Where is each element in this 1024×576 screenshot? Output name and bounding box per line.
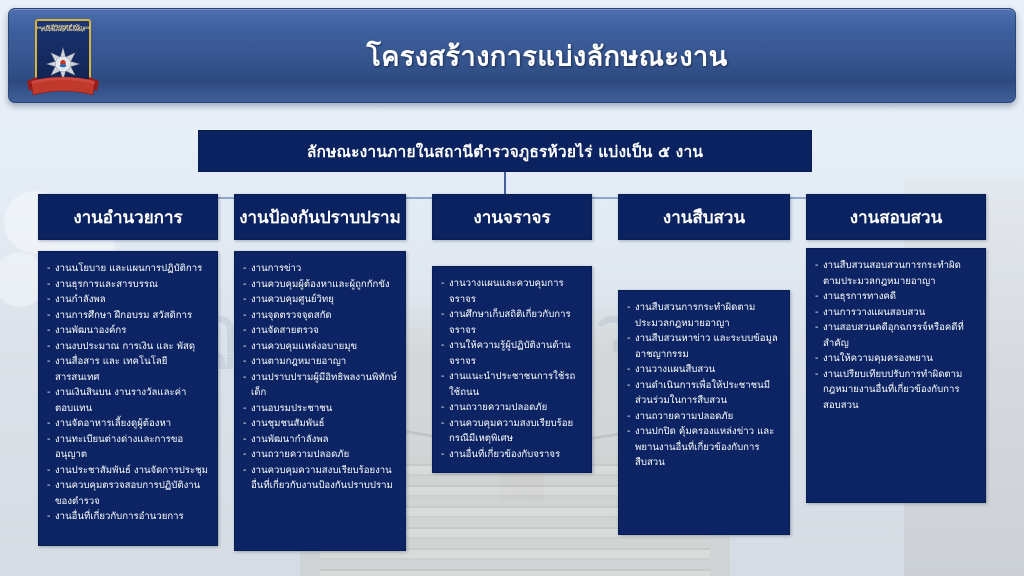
list-item: งานสืบสวนสอบสวนการกระทำผิดตามประมวลกฎหมา… <box>814 258 978 289</box>
list-item: งานงบประมาณ การเงิน และ พัสดุ <box>46 339 210 355</box>
column-body-traffic: งานวางแผนและควบคุมการจราจร งานศึกษาเก็บส… <box>432 266 592 473</box>
column-body-investigation: งานสืบสวนการกระทำผิดตามประมวลกฎหมายอาญา … <box>618 290 790 535</box>
list-item: งานสืบสวนหาข่าว และระบบข้อมูลอาชญากรรม <box>626 331 782 362</box>
list-item: งานพัฒนาองค์กร <box>46 323 210 339</box>
list-item: งานถวายความปลอดภัย <box>626 409 782 425</box>
list-item: งานศึกษาเก็บสถิติเกี่ยวกับการจราจร <box>440 307 584 338</box>
list-item: งานดำเนินการเพื่อให้ประชาชนมีส่วนร่วมในก… <box>626 378 782 409</box>
list-item: งานให้ความรู้ผู้ปฏิบัติงานด้านจราจร <box>440 338 584 369</box>
column-header-interrogation[interactable]: งานสอบสวน <box>806 194 986 240</box>
list-item: งานอื่นที่เกี่ยวข้องกับจราจร <box>440 447 584 463</box>
list-item: งานจัดอาหารเลี้ยงดูผู้ต้องหา <box>46 416 210 432</box>
column-body-administration: งานนโยบาย และแผนการปฏิบัติการ งานธุรการแ… <box>38 251 218 546</box>
column-interrogation: งานสอบสวน งานสืบสวนสอบสวนการกระทำผิดตามป… <box>806 194 986 503</box>
list-item: งานสืบสวนการกระทำผิดตามประมวลกฎหมายอาญา <box>626 300 782 331</box>
list-item: งานจุดตรวจจุดสกัด <box>242 308 398 324</box>
list-item: งานถวายความปลอดภัย <box>440 400 584 416</box>
list-item: งานเปรียบเทียบปรับการทำผิดตามกฎหมายงานอื… <box>814 367 978 414</box>
list-item: งานการข่าว <box>242 261 398 277</box>
list-item: งานชุมชนสัมพันธ์ <box>242 416 398 432</box>
list-item: งานเงินสินบน งานรางวัลและค่าตอบแทน <box>46 385 210 416</box>
list-item: งานประชาสัมพันธ์ งานจัดการประชุม <box>46 463 210 479</box>
list-item: งานควบคุมตรวจสอบการปฏิบัติงานของตำรวจ <box>46 478 210 509</box>
list-item: งานการวางแผนสอบสวน <box>814 305 978 321</box>
list-item: งานพัฒนากำลังพล <box>242 432 398 448</box>
column-body-interrogation: งานสืบสวนสอบสวนการกระทำผิดตามประมวลกฎหมา… <box>806 248 986 503</box>
column-header-administration[interactable]: งานอำนวยการ <box>38 194 218 240</box>
list-item: งานอื่นที่เกี่ยวกับการอำนวยการ <box>46 509 210 525</box>
org-columns: งานอำนวยการ งานนโยบาย และแผนการปฏิบัติกา… <box>0 0 1024 576</box>
list-item: งานจัดสายตรวจ <box>242 323 398 339</box>
list-item: งานควบคุมศูนย์วิทยุ <box>242 292 398 308</box>
list-item: งานการศึกษา ฝึกอบรม สวัสดิการ <box>46 308 210 324</box>
column-header-investigation[interactable]: งานสืบสวน <box>618 194 790 240</box>
list-item: งานให้ความคุมครองพยาน <box>814 351 978 367</box>
list-item: งานสอบสวนคดีอุกฉกรรจ์หรือคดีที่สำคัญ <box>814 320 978 351</box>
list-item: งานวางแผนสืบสวน <box>626 362 782 378</box>
column-investigation: งานสืบสวน งานสืบสวนการกระทำผิดตามประมวลก… <box>618 194 790 535</box>
list-item: งานปราบปรามผู้มีอิทธิพลงานพิทักษ์เด็ก <box>242 370 398 401</box>
list-item: งานควบคุมความสงบเรียบร้อยงานอื่นที่เกี่ย… <box>242 463 398 494</box>
list-item: งานสื่อสาร และ เทคโนโลยีสารสนเทศ <box>46 354 210 385</box>
column-header-traffic[interactable]: งานจราจร <box>432 194 592 240</box>
column-body-crime-prevention: งานการข่าว งานควบคุมผู้ต้องหาและผู้ถูกกั… <box>234 251 406 551</box>
list-item: งานควบคุมแหล่งอบายมุข <box>242 339 398 355</box>
column-traffic: งานจราจร งานวางแผนและควบคุมการจราจร งานศ… <box>432 194 592 473</box>
slide-canvas: ภูธ วย HUAYRAI POLICE STATION <box>0 0 1024 576</box>
list-item: งานกำลังพล <box>46 292 210 308</box>
list-item: งานควบคุมความสงบเรียบร้อยกรณีมีเหตุพิเศษ <box>440 416 584 447</box>
list-item: งานปกปิด คุ้มครองแหล่งข่าว และพยานงานอื่… <box>626 424 782 471</box>
list-item: งานธุรการและสารบรรณ <box>46 277 210 293</box>
list-item: งานทะเบียนต่างด่างและการขออนุญาต <box>46 432 210 463</box>
list-item: งานแนะนำประชาชนการใช้รถใช้ถนน <box>440 369 584 400</box>
column-administration: งานอำนวยการ งานนโยบาย และแผนการปฏิบัติกา… <box>38 194 218 546</box>
column-header-crime-prevention[interactable]: งานป้องกันปราบปราม <box>234 194 406 240</box>
column-crime-prevention: งานป้องกันปราบปราม งานการข่าว งานควบคุมผ… <box>234 194 406 551</box>
list-item: งานวางแผนและควบคุมการจราจร <box>440 276 584 307</box>
list-item: งานนโยบาย และแผนการปฏิบัติการ <box>46 261 210 277</box>
list-item: งานควบคุมผู้ต้องหาและผู้ถูกกักขัง <box>242 277 398 293</box>
list-item: งานตามกฎหมายอาญา <box>242 354 398 370</box>
list-item: งานถวายความปลอดภัย <box>242 447 398 463</box>
list-item: งานธุรการทางคดี <box>814 289 978 305</box>
list-item: งานอบรมประชาชน <box>242 401 398 417</box>
